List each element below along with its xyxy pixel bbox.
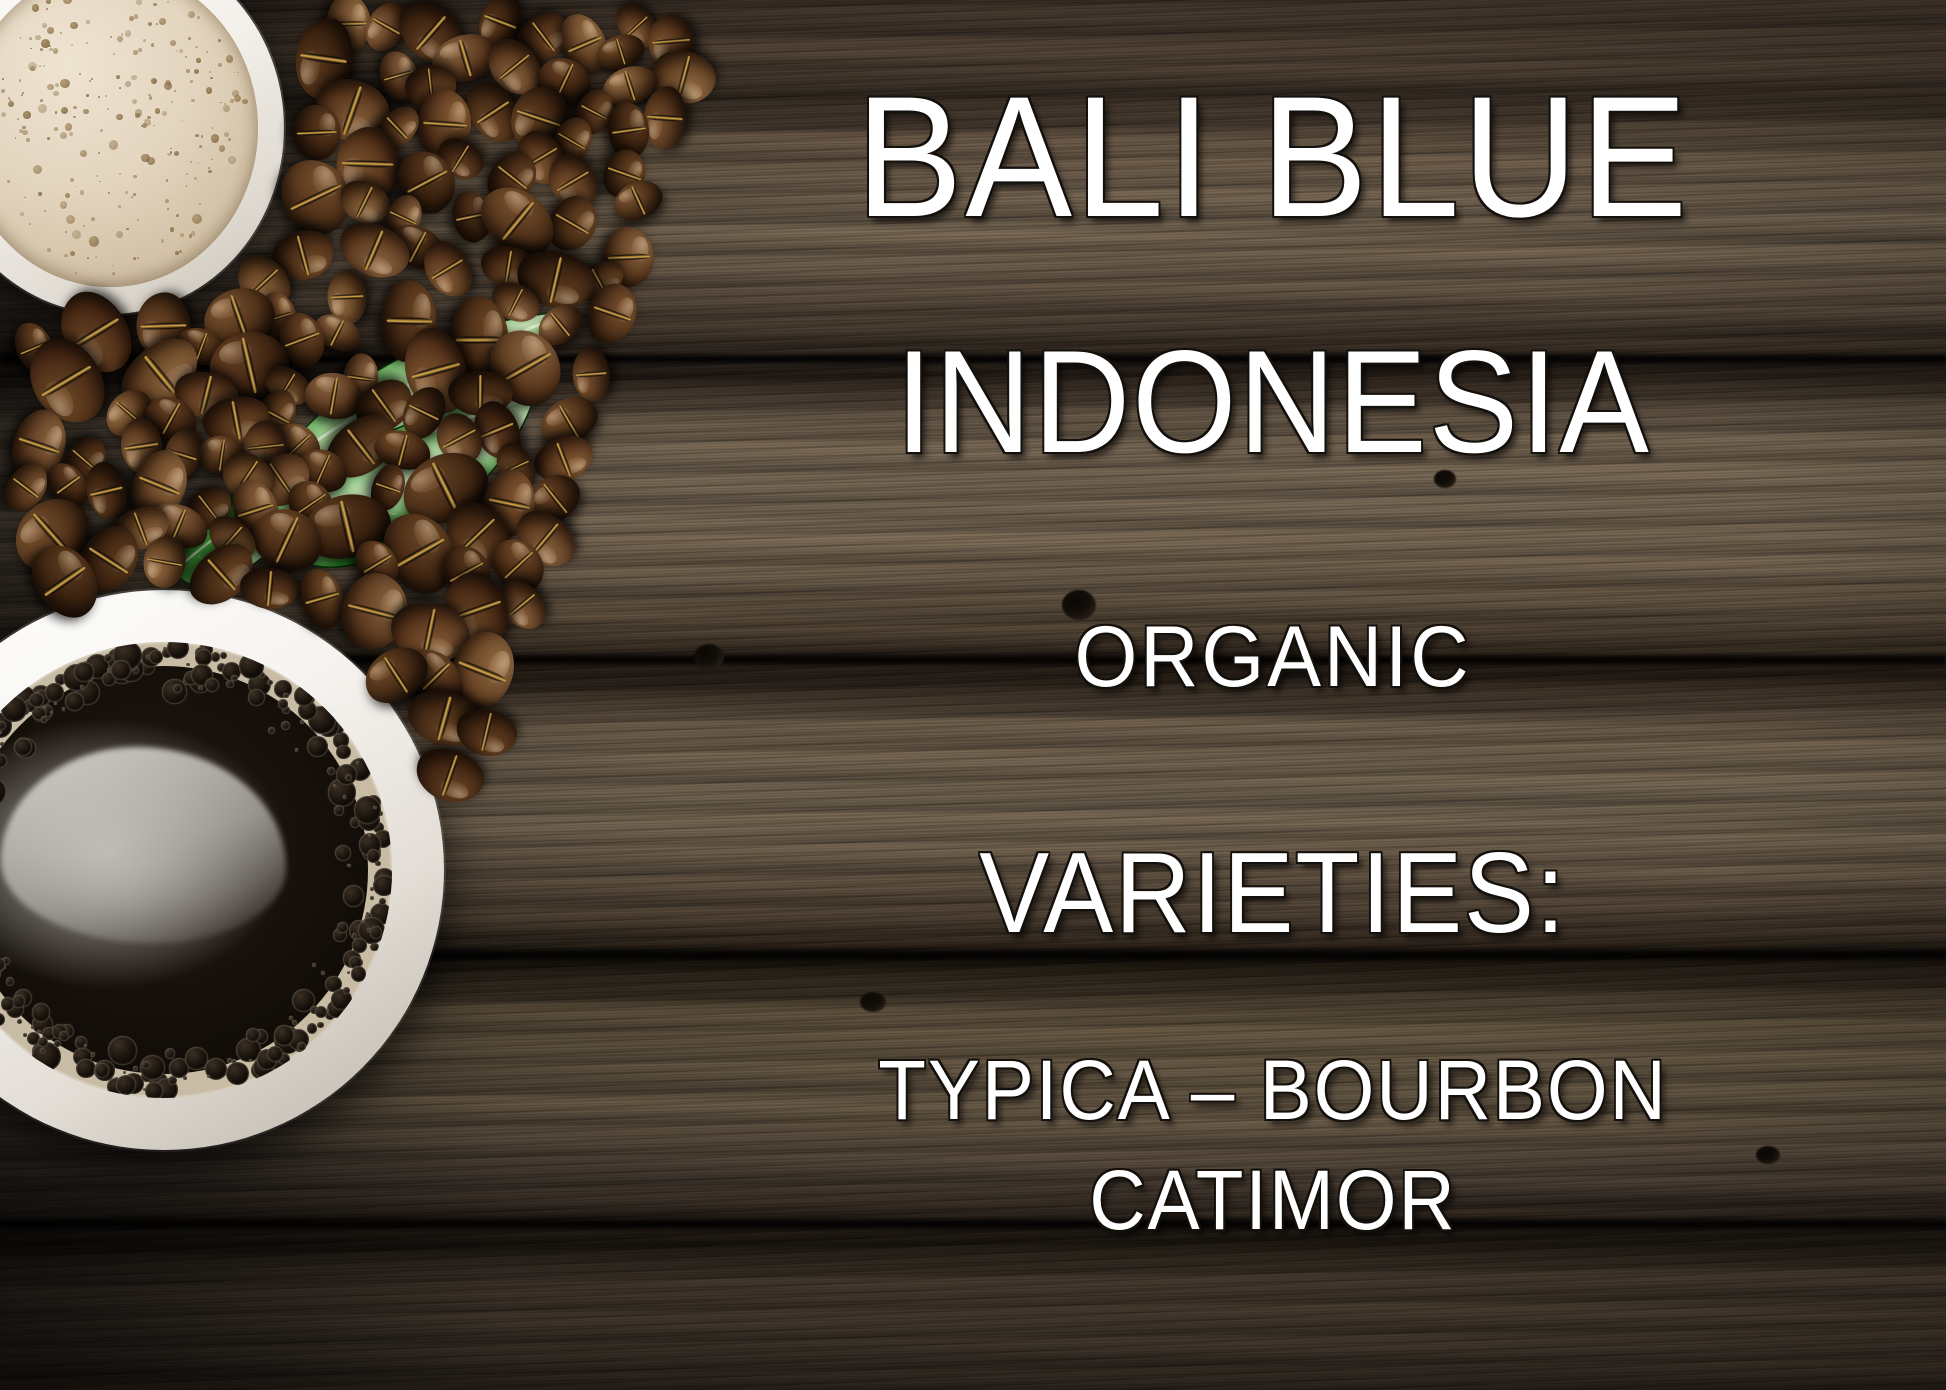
coffee-bubble: [267, 1046, 283, 1062]
foam-bubble: [190, 161, 192, 163]
foam-bubble: [137, 219, 139, 221]
foam-bubble: [72, 230, 81, 239]
foam-bubble: [179, 49, 182, 52]
foam-bubble: [71, 44, 73, 46]
coffee-bubble: [307, 736, 328, 757]
coffee-bubble: [0, 742, 4, 746]
foam-bubble: [198, 162, 200, 164]
foam-bubble: [143, 39, 146, 42]
coffee-bubble: [167, 642, 189, 659]
cappuccino-foam: [0, 0, 258, 287]
foam-bubble: [195, 134, 199, 138]
foam-bubble: [188, 11, 195, 18]
foam-bubble: [119, 173, 121, 175]
foam-bubble: [220, 102, 222, 104]
foam-bubble: [32, 4, 39, 11]
coffee-bubble: [373, 806, 377, 810]
foam-bubble: [7, 180, 10, 183]
foam-bubble: [29, 37, 32, 40]
foam-bubble: [135, 109, 143, 117]
foam-bubble: [91, 217, 95, 221]
foam-bubble: [30, 48, 32, 50]
foam-bubble: [75, 186, 77, 188]
foam-bubble: [206, 87, 213, 94]
foam-bubble: [164, 82, 172, 90]
foam-bubble: [132, 99, 137, 104]
coffee-bubble: [317, 1022, 323, 1028]
foam-bubble: [228, 138, 231, 141]
coffee-bubble: [80, 685, 84, 689]
coffee-bubble: [91, 1052, 95, 1056]
foam-bubble: [22, 126, 25, 129]
foam-bubble: [44, 210, 46, 212]
foam-bubble: [230, 99, 234, 103]
foam-bubble: [108, 192, 110, 194]
foam-bubble: [210, 77, 213, 80]
foam-bubble: [80, 190, 84, 194]
foam-bubble: [186, 185, 188, 187]
foam-bubble: [29, 223, 31, 225]
foam-bubble: [151, 43, 154, 46]
foam-bubble: [224, 132, 229, 137]
coffee-bubble: [1, 997, 15, 1011]
foam-bubble: [60, 132, 67, 139]
foam-bubble: [54, 127, 58, 131]
foam-bubble: [237, 72, 239, 74]
black-coffee-bubble-ring: [0, 642, 392, 1098]
foam-bubble: [129, 16, 134, 21]
foam-bubble: [33, 165, 42, 174]
coffee-bubble: [343, 795, 346, 798]
foam-bubble: [80, 150, 87, 157]
foam-bubble: [112, 265, 114, 267]
foam-bubble: [98, 96, 100, 98]
coffee-bubble: [54, 702, 57, 705]
coffee-bubble: [312, 963, 316, 967]
coffee-bubble: [249, 1059, 252, 1062]
foam-bubble: [166, 179, 169, 182]
foam-bubble: [125, 191, 128, 194]
foam-bubble: [46, 8, 48, 10]
foam-bubble: [162, 111, 167, 116]
coffee-bubble: [267, 680, 273, 686]
foam-bubble: [98, 152, 100, 154]
foam-bubble: [131, 75, 136, 80]
foam-bubble: [116, 114, 122, 120]
coffee-bubble: [354, 796, 381, 823]
foam-bubble: [174, 151, 179, 156]
coffee-bubble: [207, 1075, 210, 1078]
foam-bubble: [209, 71, 211, 73]
foam-bubble: [20, 37, 22, 39]
foam-bubble: [47, 248, 51, 252]
foam-bubble: [55, 83, 59, 87]
foam-bubble: [116, 231, 123, 238]
coffee-bubble: [351, 966, 367, 982]
coffee-bubble: [274, 1025, 294, 1045]
coffee-bubble: [59, 1031, 68, 1040]
foam-bubble: [165, 199, 169, 203]
coffee-bubble: [6, 977, 15, 986]
foam-bubble: [55, 111, 58, 114]
foam-bubble: [190, 80, 193, 83]
origin-country: INDONESIA: [654, 318, 1892, 486]
foam-bubble: [40, 48, 43, 51]
foam-bubble: [212, 127, 214, 129]
coffee-bubble: [186, 663, 189, 666]
coffee-bubble: [74, 662, 93, 681]
foam-bubble: [195, 46, 198, 49]
coffee-bubble: [278, 699, 287, 708]
foam-bubble: [109, 140, 119, 150]
foam-bubble: [180, 233, 184, 237]
foam-bubble: [35, 35, 41, 41]
coffee-bubble: [231, 675, 237, 681]
foam-bubble: [1, 112, 6, 117]
foam-bubble: [39, 65, 41, 67]
foam-bubble: [2, 78, 4, 80]
foam-bubble: [47, 84, 53, 90]
coffee-bubble: [239, 653, 264, 678]
foam-bubble: [218, 63, 222, 67]
foam-bubble: [153, 3, 157, 7]
foam-bubble: [176, 214, 179, 217]
foam-bubble: [224, 103, 226, 105]
coffee-bubble: [347, 864, 350, 867]
foam-bubble: [26, 138, 30, 142]
foam-bubble: [131, 196, 133, 198]
foam-bubble: [208, 170, 212, 174]
foam-bubble: [192, 214, 202, 224]
foam-bubble: [194, 177, 196, 179]
foam-bubble: [73, 106, 77, 110]
coffee-bubble: [17, 1019, 22, 1024]
coffee-bubble: [379, 898, 386, 905]
coffee-bubble: [145, 1082, 163, 1098]
coffee-bubble: [54, 1040, 61, 1047]
coffee-bubble: [334, 805, 344, 815]
foam-bubble: [86, 42, 88, 44]
foam-bubble: [197, 16, 200, 19]
foam-bubble: [208, 167, 210, 169]
foam-bubble: [47, 137, 51, 141]
foam-bubble: [159, 18, 166, 25]
coffee-bubble: [294, 686, 313, 705]
foam-bubble: [118, 205, 121, 208]
varieties-list-line-2: CATIMOR: [647, 1152, 1899, 1249]
coffee-product-poster: BALI BLUE INDONESIA ORGANIC VARIETIES: T…: [0, 0, 1946, 1390]
foam-bubble: [95, 256, 97, 258]
foam-bubble: [156, 23, 158, 25]
certification-label: ORGANIC: [640, 608, 1905, 707]
coffee-bubble: [300, 720, 304, 724]
foam-bubble: [119, 87, 121, 89]
foam-bubble: [182, 120, 184, 122]
coffee-bubble: [133, 1066, 138, 1071]
foam-bubble: [126, 228, 129, 231]
coffee-bubble: [347, 971, 350, 974]
foam-bubble: [83, 225, 86, 228]
foam-bubble: [199, 203, 201, 205]
foam-bubble: [8, 101, 14, 107]
coffee-bubble: [0, 1013, 5, 1026]
foam-bubble: [148, 22, 152, 26]
coffee-bubble: [352, 938, 367, 953]
foam-bubble: [191, 231, 195, 235]
coffee-bubble: [268, 727, 275, 734]
foam-bubble: [232, 90, 239, 97]
foam-bubble: [53, 48, 58, 53]
foam-bubble: [38, 192, 41, 195]
coffee-bubble: [337, 922, 348, 933]
foam-bubble: [65, 231, 67, 233]
foam-bubble: [228, 156, 236, 164]
foam-bubble: [19, 79, 22, 82]
foam-bubble: [66, 215, 75, 224]
foam-bubble: [153, 125, 155, 127]
coffee-bubble: [116, 1075, 136, 1095]
foam-bubble: [176, 50, 178, 52]
foam-bubble: [83, 109, 88, 114]
foam-bubble: [86, 94, 89, 97]
foam-bubble: [199, 145, 202, 148]
foam-bubble: [47, 27, 54, 34]
foam-bubble: [138, 48, 142, 52]
foam-bubble: [17, 118, 19, 120]
product-text-panel: BALI BLUE INDONESIA ORGANIC VARIETIES: T…: [600, 0, 1946, 1390]
coffee-bubble: [283, 693, 288, 698]
foam-bubble: [219, 145, 225, 151]
coffee-bubble: [220, 652, 227, 659]
coffee-bubble: [370, 943, 378, 951]
foam-bubble: [125, 30, 131, 36]
coffee-bubble: [367, 849, 380, 862]
foam-bubble: [105, 95, 107, 97]
foam-bubble: [43, 65, 45, 67]
foam-bubble: [125, 81, 131, 87]
coffee-bubble: [370, 926, 383, 939]
foam-bubble: [87, 257, 89, 259]
foam-bubble: [73, 116, 76, 119]
foam-bubble: [91, 78, 93, 80]
foam-bubble: [1, 89, 5, 93]
foam-bubble: [167, 208, 169, 210]
foam-bubble: [46, 0, 51, 4]
foam-bubble: [134, 14, 139, 19]
foam-bubble: [79, 73, 81, 75]
coffee-bubble: [50, 711, 53, 714]
foam-bubble: [21, 94, 23, 96]
foam-bubble: [223, 105, 230, 112]
foam-bubble: [196, 58, 201, 63]
coffee-bubble: [366, 912, 369, 915]
coffee-bubble: [142, 1061, 150, 1069]
foam-bubble: [167, 1, 170, 4]
foam-bubble: [218, 39, 221, 42]
foam-bubble: [86, 20, 90, 24]
foam-bubble: [61, 107, 68, 114]
foam-bubble: [161, 239, 165, 243]
foam-bubble: [155, 108, 160, 113]
foam-bubble: [65, 193, 70, 198]
foam-bubble: [38, 104, 47, 113]
foam-bubble: [64, 254, 67, 257]
foam-bubble: [65, 123, 73, 131]
foam-bubble: [99, 181, 101, 183]
coffee-bubble: [111, 660, 130, 679]
foam-bubble: [69, 132, 73, 136]
foam-bubble: [96, 175, 99, 178]
foam-bubble: [179, 250, 182, 253]
foam-bubble: [28, 62, 37, 71]
coffee-bubble: [45, 683, 64, 702]
foam-bubble: [201, 135, 204, 138]
coffee-bubble: [248, 689, 265, 706]
foam-bubble: [186, 173, 188, 175]
foam-bubble: [170, 40, 176, 46]
foam-bubble: [15, 137, 17, 139]
foam-bubble: [242, 99, 247, 104]
foam-bubble: [170, 148, 172, 150]
foam-bubble: [211, 159, 213, 161]
foam-bubble: [185, 56, 187, 58]
foam-bubble: [137, 257, 139, 259]
foam-bubble: [75, 272, 77, 274]
foam-bubble: [112, 272, 115, 275]
foam-bubble: [175, 251, 179, 255]
foam-bubble: [60, 79, 70, 89]
foam-bubble: [171, 101, 173, 103]
foam-bubble: [133, 257, 136, 260]
coffee-bubble: [211, 652, 221, 662]
coffee-bubble: [41, 716, 47, 722]
foam-bubble: [42, 23, 47, 28]
foam-bubble: [70, 178, 75, 183]
coffee-bubble: [343, 987, 350, 994]
coffee-bubble: [336, 745, 350, 759]
foam-bubble: [60, 201, 67, 208]
coffee-bubble: [108, 1036, 136, 1064]
foam-bubble: [151, 78, 157, 84]
foam-bubble: [198, 181, 200, 183]
coffee-bubble: [1, 696, 27, 722]
coffee-bubble: [335, 845, 351, 861]
foam-bubble: [117, 36, 123, 42]
foam-bubble: [211, 134, 220, 143]
foam-bubble: [149, 96, 152, 99]
foam-bubble: [70, 22, 78, 30]
foam-bubble: [194, 69, 199, 74]
foam-bubble: [70, 251, 75, 256]
foam-bubble: [147, 116, 150, 119]
coffee-bubble: [333, 784, 336, 787]
coffee-bubble: [65, 692, 84, 711]
foam-bubble: [110, 36, 112, 38]
foam-bubble: [48, 45, 50, 47]
foam-bubble: [226, 55, 234, 63]
foam-bubble: [142, 123, 147, 128]
foam-bubble: [19, 129, 23, 133]
foam-bubble: [40, 99, 43, 102]
foam-bubble: [100, 129, 103, 132]
foam-bubble: [133, 50, 138, 55]
foam-bubble: [133, 175, 136, 178]
foam-bubble: [168, 153, 171, 156]
coffee-bubble: [373, 875, 392, 897]
coffee-bubble: [32, 1003, 50, 1021]
coffee-bubble: [297, 1042, 306, 1051]
coffee-bubble: [165, 1048, 175, 1058]
foam-bubble: [136, 0, 142, 5]
varieties-list-line-1: TYPICA – BOURBON: [647, 1042, 1899, 1139]
foam-bubble: [113, 53, 115, 55]
coffee-bubble: [356, 761, 359, 764]
coffee-bubble: [226, 1062, 249, 1085]
coffee-bubble: [104, 654, 112, 662]
coffee-surface-reflection: [1, 747, 287, 943]
foam-bubble: [191, 99, 194, 102]
foam-bubble: [22, 130, 27, 135]
coffee-bubble: [198, 686, 202, 690]
foam-bubble: [186, 69, 190, 73]
coffee-bubble: [307, 1023, 317, 1033]
coffee-bubble: [370, 896, 374, 900]
coffee-bubble: [29, 693, 43, 707]
foam-bubble: [234, 72, 236, 74]
foam-bubble: [8, 97, 10, 99]
foam-bubble: [60, 32, 62, 34]
foam-bubble: [23, 111, 30, 118]
foam-bubble: [107, 108, 110, 111]
varieties-heading: VARIETIES:: [654, 828, 1892, 959]
foam-bubble: [174, 90, 176, 92]
foam-bubble: [63, 0, 71, 4]
foam-bubble: [116, 75, 120, 79]
coffee-bubble: [345, 774, 352, 781]
foam-bubble: [53, 91, 59, 97]
foam-bubble: [89, 80, 91, 82]
coffee-bubble: [149, 650, 163, 664]
foam-bubble: [24, 197, 26, 199]
foam-bubble: [188, 37, 191, 40]
foam-bubble: [170, 227, 174, 231]
coffee-bubble: [123, 1071, 126, 1074]
foam-bubble: [89, 236, 99, 246]
page-title: BALI BLUE: [647, 58, 1899, 256]
foam-bubble: [206, 51, 208, 53]
foam-bubble: [20, 212, 24, 216]
coffee-bubble: [315, 1006, 327, 1018]
foam-bubble: [133, 193, 137, 197]
coffee-bubble: [343, 885, 365, 907]
